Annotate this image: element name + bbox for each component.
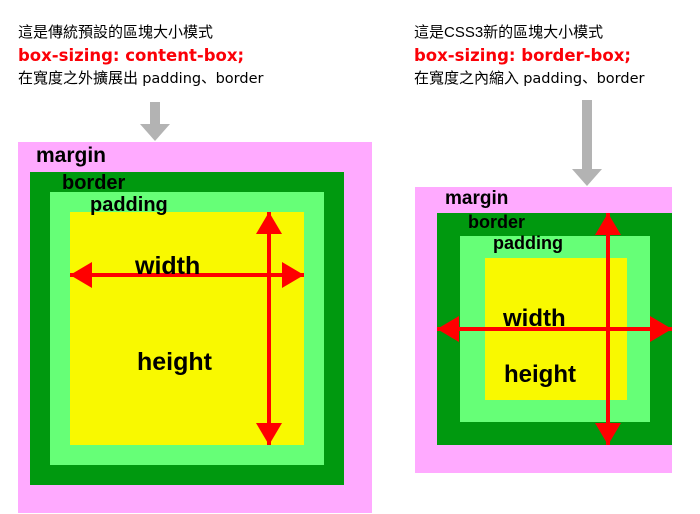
left-caption-line-3-prefix: 在寬度之外擴展出 <box>18 70 138 87</box>
border-box-padding-label: padding <box>493 233 563 254</box>
width-arrowhead-left <box>70 262 92 288</box>
width-arrowhead-right <box>650 316 672 342</box>
content-box-diagram: margin border padding width height <box>18 142 372 513</box>
right-caption-line-1: 這是CSS3新的區塊大小模式 <box>414 22 644 44</box>
left-caption-code: box-sizing: content-box; <box>18 44 263 68</box>
right-caption-line-3-prefix: 在寬度之內縮入 <box>414 70 519 87</box>
right-flow-down-arrow-icon <box>572 100 602 186</box>
content-box-height-label: height <box>137 348 212 377</box>
left-caption-line-3: 在寬度之外擴展出 padding、border <box>18 68 263 90</box>
right-caption-line-3: 在寬度之內縮入 padding、border <box>414 68 644 90</box>
right-caption-code: box-sizing: border-box; <box>414 44 644 68</box>
border-box-border-label: border <box>468 212 525 233</box>
left-caption-line-1: 這是傳統預設的區塊大小模式 <box>18 22 263 44</box>
content-box-padding-label: padding <box>90 194 168 217</box>
border-box-diagram: margin border padding width height <box>415 187 672 473</box>
left-flow-down-arrow-icon <box>140 102 170 141</box>
left-caption-block: 這是傳統預設的區塊大小模式 box-sizing: content-box; 在… <box>18 22 263 90</box>
border-box-width-label: width <box>503 305 566 333</box>
right-caption-line-3-mono: padding、border <box>523 71 644 87</box>
height-arrowhead-top <box>595 213 621 235</box>
border-box-height-label: height <box>504 361 576 389</box>
box-sizing-comparison-diagram: 這是傳統預設的區塊大小模式 box-sizing: content-box; 在… <box>0 0 700 514</box>
width-arrowhead-left <box>437 316 459 342</box>
right-caption-block: 這是CSS3新的區塊大小模式 box-sizing: border-box; 在… <box>414 22 644 90</box>
border-box-margin-label: margin <box>445 188 508 210</box>
content-box-height-measure <box>254 212 284 445</box>
border-box-height-measure <box>593 213 623 445</box>
height-arrowhead-bottom <box>256 423 282 445</box>
content-box-border-label: border <box>62 172 125 195</box>
height-arrowhead-bottom <box>595 423 621 445</box>
content-box-margin-label: margin <box>36 144 106 168</box>
content-box-width-label: width <box>135 252 200 281</box>
height-arrowhead-top <box>256 212 282 234</box>
left-caption-line-3-mono: padding、border <box>142 71 263 87</box>
width-arrowhead-right <box>282 262 304 288</box>
